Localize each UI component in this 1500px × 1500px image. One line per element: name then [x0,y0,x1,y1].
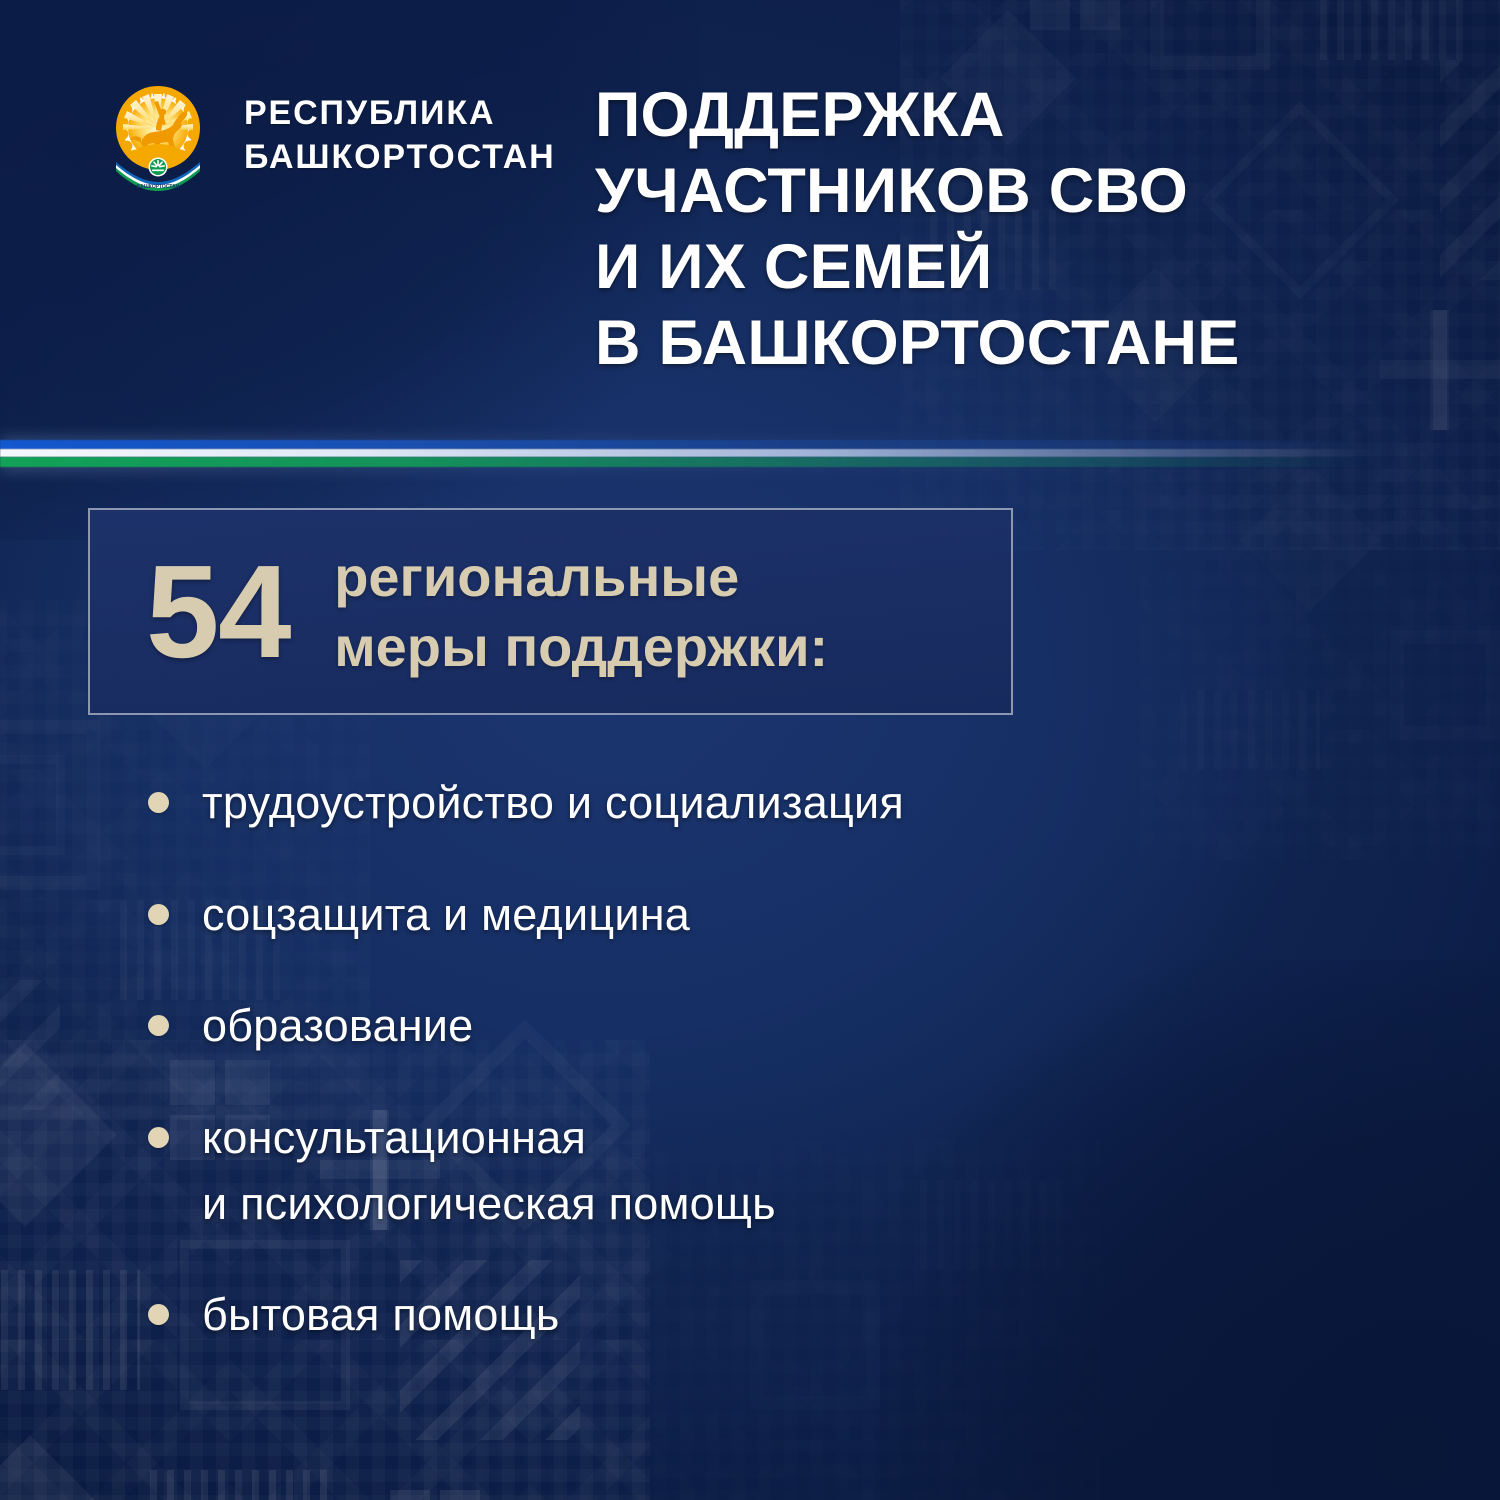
bullet-dot-icon [148,792,169,813]
measures-count-box: 54 региональные меры поддержки: [88,508,1013,715]
measures-count-number: 54 [146,546,290,678]
poster-header: БАШКОРТОСТАН РЕСПУБЛИКА БАШКОРТОСТАН ПОД… [0,0,1500,430]
bullet-dot-icon [148,1304,169,1325]
list-item: соцзащита и медицина [148,882,1308,948]
list-item: образование [148,993,1308,1059]
bullet-dot-icon [148,904,169,925]
bullet-dot-icon [148,1015,169,1036]
list-item-label: соцзащита и медицина [202,882,690,948]
infographic-poster: БАШКОРТОСТАН РЕСПУБЛИКА БАШКОРТОСТАН ПОД… [0,0,1500,1500]
measures-list: трудоустройство и социализация соцзащита… [148,770,1308,1348]
measures-count-label: региональные меры поддержки: [334,542,828,681]
divider-band-blue [0,440,1420,449]
list-item-label: трудоустройство и социализация [202,770,904,836]
page-title: ПОДДЕРЖКА УЧАСТНИКОВ СВО И ИХ СЕМЕЙ В БА… [595,78,1425,382]
list-item: консультационная и психологическая помощ… [148,1105,1308,1236]
bullet-dot-icon [148,1127,169,1148]
flag-divider [0,440,1420,467]
list-item-label: консультационная и психологическая помощ… [202,1105,776,1236]
list-item-label: образование [202,993,473,1059]
list-item-label: бытовая помощь [202,1282,560,1348]
divider-band-green [0,457,1420,467]
divider-band-white [0,449,1420,457]
emblem-ribbon-text: БАШКОРТОСТАН [137,184,180,190]
republic-name: РЕСПУБЛИКА БАШКОРТОСТАН [244,92,556,179]
bashkortostan-coat-of-arms-icon: БАШКОРТОСТАН [96,72,220,196]
list-item: трудоустройство и социализация [148,770,1308,836]
list-item: бытовая помощь [148,1282,1308,1348]
